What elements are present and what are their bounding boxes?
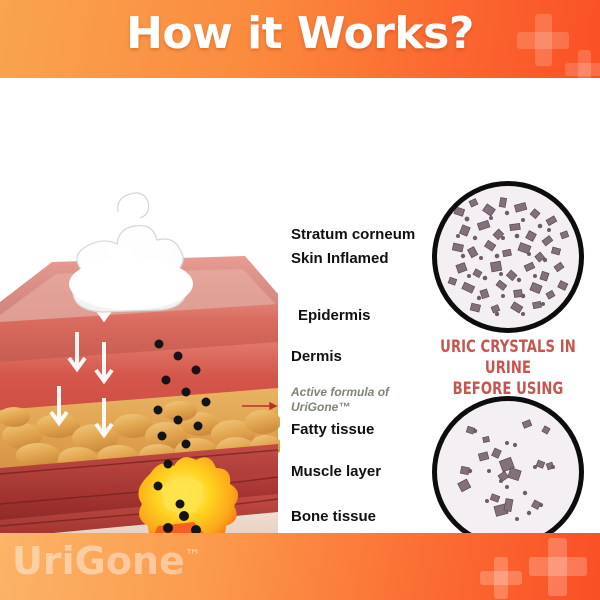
cream-dollop-icon [69,193,193,312]
page-title: How it Works? [0,8,600,59]
plus-icon [480,557,522,599]
microscope-view-before [432,181,584,333]
label-active-formula: Active formula of UriGone™ [291,385,411,415]
crystal-field-sparse [437,401,579,543]
label-muscle-layer: Muscle layer [291,463,381,480]
plus-icon [529,538,587,596]
footer-banner: UriGone™ [0,533,600,600]
caption-before-using: URIC CRYSTALS IN URINE BEFORE USING [418,337,599,400]
brand-wordmark: UriGone™ [12,539,201,583]
label-bone-tissue: Bone tissue [291,508,376,525]
label-dermis: Dermis [291,348,342,365]
infographic-page: How it Works? [0,0,600,600]
label-fatty-tissue: Fatty tissue [291,421,374,438]
content-area: Uric Crystals Stratum corneum Skin Infla… [0,78,600,533]
label-epidermis: Epidermis [298,307,371,324]
caption-before-line1: URIC CRYSTALS IN URINE [418,337,599,379]
crystal-field-dense [437,186,579,328]
brand-name: UriGone [12,539,185,583]
active-formula-line2: UriGone™ [291,400,350,414]
skin-cross-section-diagram [0,174,280,564]
trademark-symbol: ™ [185,545,201,564]
microscope-view-after [432,396,584,548]
label-skin-inflamed: Skin Inflamed [291,250,389,267]
active-formula-line1: Active formula of [291,385,389,399]
header-banner: How it Works? [0,0,600,78]
label-stratum-corneum: Stratum corneum [291,226,415,243]
